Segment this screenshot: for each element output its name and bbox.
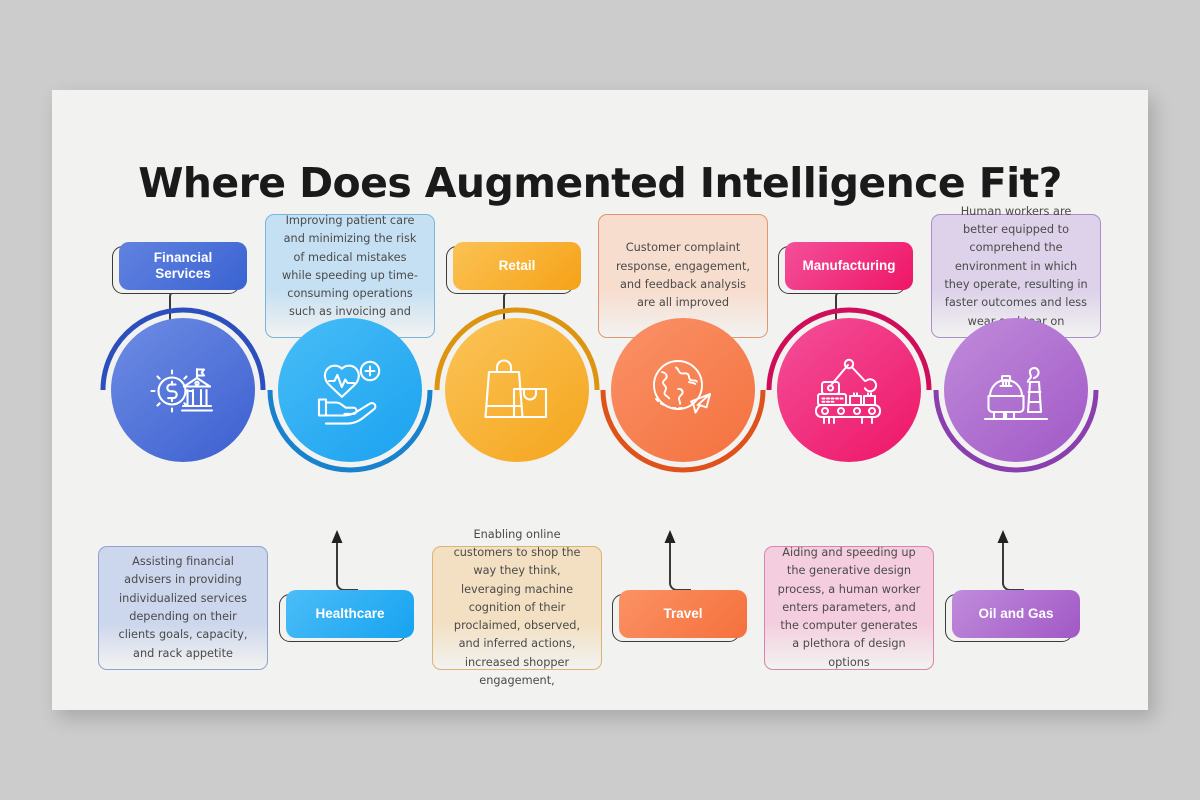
sector-label-text: Travel (663, 606, 702, 622)
sector-disc-healthcare (278, 318, 422, 462)
sector-disc-financial-services (111, 318, 255, 462)
sector-disc-manufacturing (777, 318, 921, 462)
screenshot-root: Where Does Augmented Intelligence Fit? A… (0, 0, 1200, 800)
description-text: Assisting financial advisers in providin… (111, 553, 255, 663)
sector-disc-oil-and-gas (944, 318, 1088, 462)
sector-circle-financial-services[interactable] (97, 304, 269, 476)
slide-canvas: Where Does Augmented Intelligence Fit? A… (52, 90, 1148, 710)
sector-label-retail[interactable]: Retail (453, 242, 581, 290)
sector-circle-retail[interactable] (431, 304, 603, 476)
sector-label-text: Financial Services (125, 250, 241, 282)
heart-hand-plus-icon (312, 355, 388, 425)
refinery-tank-icon (980, 354, 1052, 426)
connector-arrow-oil-and-gas (970, 526, 1030, 592)
sector-label-travel[interactable]: Travel (619, 590, 747, 638)
sector-label-oil-and-gas[interactable]: Oil and Gas (952, 590, 1080, 638)
description-card-retail: Enabling online customers to shop the wa… (432, 546, 602, 670)
sector-label-financial-services[interactable]: Financial Services (119, 242, 247, 290)
description-text: Enabling online customers to shop the wa… (445, 526, 589, 691)
description-card-financial-services: Assisting financial advisers in providin… (98, 546, 268, 670)
sector-circle-healthcare[interactable] (264, 304, 436, 476)
sector-label-manufacturing[interactable]: Manufacturing (785, 242, 913, 290)
sector-circle-oil-and-gas[interactable] (930, 304, 1102, 476)
description-text: Aiding and speeding up the generative de… (777, 544, 921, 672)
connector-arrow-healthcare (304, 526, 364, 592)
description-card-manufacturing: Aiding and speeding up the generative de… (764, 546, 934, 670)
robot-arm-conveyor-icon (810, 354, 888, 426)
sector-label-text: Healthcare (315, 606, 384, 622)
sector-disc-retail (445, 318, 589, 462)
sector-label-text: Manufacturing (803, 258, 896, 274)
connector-arrow-travel (637, 526, 697, 592)
sector-label-text: Oil and Gas (978, 606, 1053, 622)
description-text: Customer complaint response, engagement,… (611, 239, 755, 312)
page-title: Where Does Augmented Intelligence Fit? (52, 159, 1148, 207)
sector-circle-travel[interactable] (597, 304, 769, 476)
bank-gear-icon (146, 353, 220, 427)
globe-airplane-icon (645, 355, 721, 425)
sector-label-healthcare[interactable]: Healthcare (286, 590, 414, 638)
sector-label-text: Retail (499, 258, 536, 274)
shopping-bags-icon (484, 355, 550, 425)
sector-circle-manufacturing[interactable] (763, 304, 935, 476)
sector-disc-travel (611, 318, 755, 462)
